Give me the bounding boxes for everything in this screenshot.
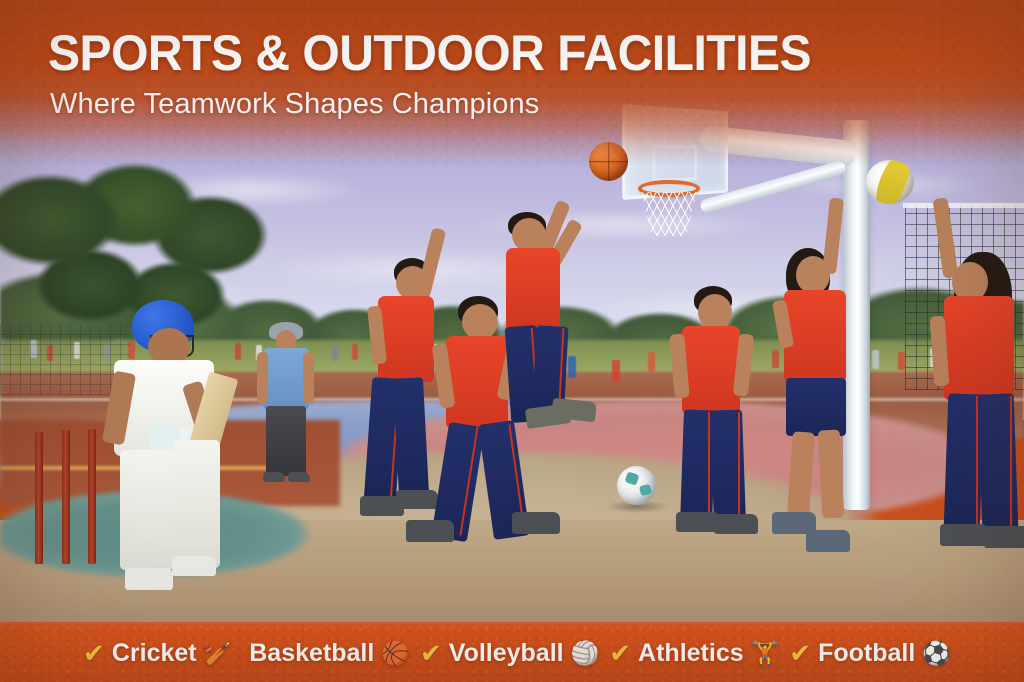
facility-item-cricket[interactable]: ✔ Cricket 🏏 (73, 638, 232, 669)
check-icon: ✔ (789, 638, 811, 669)
batting-pad (174, 440, 220, 568)
player-shirt (682, 326, 740, 414)
facility-label-volleyball: Volleyball (449, 639, 564, 668)
player-shorts (786, 378, 846, 436)
player-shoe (940, 524, 988, 546)
background-person (568, 356, 576, 378)
check-icon: ✔ (609, 638, 631, 669)
page-title: SPORTS & OUTDOOR FACILITIES (48, 24, 811, 82)
player-shirt (506, 248, 560, 330)
volleyball (866, 160, 914, 204)
facility-item-football[interactable]: ✔ Football ⚽ (779, 638, 951, 669)
player-shirt (944, 296, 1014, 400)
facility-label-football: Football (818, 639, 915, 668)
background-person (612, 360, 620, 382)
background-person (772, 350, 779, 368)
background-person (235, 343, 241, 360)
volleyball-icon: 🏐 (571, 642, 600, 665)
stump (88, 429, 96, 564)
batting-pad (120, 450, 174, 570)
football-icon: ⚽ (922, 642, 951, 665)
player-shoe (714, 514, 758, 534)
stump (62, 430, 70, 564)
facility-label-athletics: Athletics (638, 639, 744, 668)
volleyball-net-tape (903, 203, 1024, 208)
background-person (872, 350, 879, 369)
trouser-stripe (738, 412, 740, 520)
player-head (698, 294, 732, 330)
umpire-shoe (288, 472, 310, 482)
facility-label-basketball: Basketball (249, 639, 374, 668)
player-leg (818, 429, 845, 518)
background-person (332, 346, 338, 361)
cricket-bat-ball-icon: 🏏 (204, 642, 233, 665)
facility-item-athletics[interactable]: ✔ Athletics 🏋 (599, 638, 779, 669)
player-shirt (378, 296, 434, 382)
basketball-icon: 🏀 (381, 642, 410, 665)
facility-label-cricket: Cricket (112, 639, 197, 668)
batsman-shoe (125, 568, 173, 590)
facility-item-volleyball[interactable]: ✔ Volleyball 🏐 (410, 638, 599, 669)
background-person (898, 352, 905, 370)
football (617, 466, 656, 505)
umpire-trousers (266, 406, 306, 476)
sports-facilities-poster: SPORTS & OUTDOOR FACILITIES Where Teamwo… (0, 0, 1024, 682)
secondary-net (0, 325, 130, 395)
player-head (462, 304, 498, 340)
player-shoe (406, 520, 454, 542)
umpire-arm (257, 352, 268, 404)
player-trousers (393, 377, 429, 496)
umpire-shoe (263, 472, 285, 482)
check-icon: ✔ (83, 638, 105, 669)
batsman-shoe (172, 556, 216, 576)
check-icon: ✔ (420, 638, 442, 669)
player-trousers (710, 409, 746, 524)
background-person (352, 344, 358, 360)
player-shoe (806, 530, 850, 552)
player-shirt (784, 290, 846, 382)
page-subtitle: Where Teamwork Shapes Champions (50, 88, 539, 121)
facilities-list: ✔ Cricket 🏏 Basketball 🏀 ✔ Volleyball 🏐 … (73, 638, 951, 669)
stump (35, 432, 43, 564)
player-shoe (512, 512, 560, 534)
athletics-icon: 🏋 (751, 642, 780, 665)
facility-item-basketball[interactable]: Basketball 🏀 (232, 639, 410, 668)
player-shoe (396, 490, 438, 509)
player-shoe (984, 526, 1024, 548)
facilities-footer-bar: ✔ Cricket 🏏 Basketball 🏀 ✔ Volleyball 🏐 … (0, 622, 1024, 682)
background-person (648, 352, 655, 372)
umpire-arm (303, 352, 314, 404)
trouser-stripe (1010, 396, 1012, 526)
